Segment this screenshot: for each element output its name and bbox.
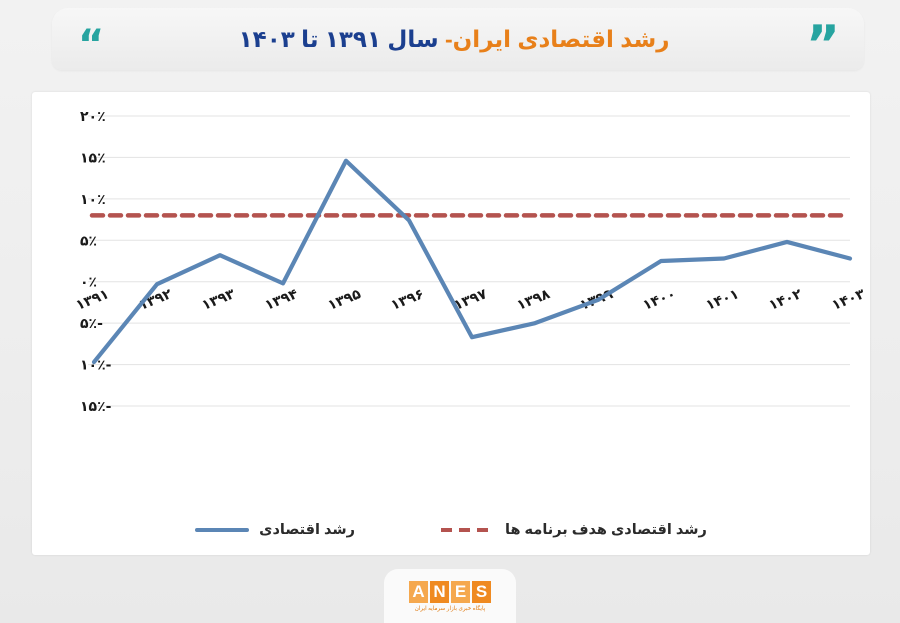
legend-swatch-dashed-icon — [441, 528, 495, 532]
sena-logo-letter-e: E — [451, 581, 470, 603]
chart-legend: رشد اقتصادی هدف برنامه ها رشد اقتصادی — [32, 513, 870, 547]
svg-text:۱۴۰۱: ۱۴۰۱ — [704, 286, 742, 314]
sena-logo[interactable]: SENA پایگاه خبری بازار سرمایه ایران — [384, 569, 516, 623]
legend-item-target[interactable]: رشد اقتصادی هدف برنامه ها — [441, 522, 707, 538]
sena-logo-letters: SENA — [409, 581, 491, 603]
svg-text:۱۳۹۶: ۱۳۹۶ — [389, 286, 427, 314]
legend-label-growth: رشد اقتصادی — [259, 522, 355, 538]
chart-card: ۲۰٪۱۵٪۱۰٪۵٪۰٪-۵٪-۱۰٪-۱۵٪ ۱۳۹۱۱۳۹۲۱۳۹۳۱۳۹… — [32, 92, 870, 555]
sena-logo-letter-s: S — [472, 581, 491, 603]
page-title: رشد اقتصادی ایران- سال ۱۳۹۱ تا ۱۴۰۳ — [102, 26, 806, 53]
header-band: ” رشد اقتصادی ایران- سال ۱۳۹۱ تا ۱۴۰۳ “ — [52, 8, 864, 70]
svg-text:-۱۵٪: -۱۵٪ — [80, 399, 112, 415]
y-axis-tick-labels: ۲۰٪۱۵٪۱۰٪۵٪۰٪-۵٪-۱۰٪-۱۵٪ — [80, 109, 112, 415]
svg-text:۱۴۰۳: ۱۴۰۳ — [830, 286, 868, 314]
svg-text:۵٪: ۵٪ — [80, 233, 97, 249]
sena-logo-letter-a: A — [409, 581, 428, 603]
footer: SENA پایگاه خبری بازار سرمایه ایران — [0, 563, 900, 623]
quote-left-icon: “ — [78, 34, 102, 56]
svg-text:۲۰٪: ۲۰٪ — [80, 109, 106, 125]
page-title-main: رشد اقتصادی ایران- — [445, 26, 669, 52]
svg-text:۱۳۹۵: ۱۳۹۵ — [326, 286, 364, 314]
sena-logo-subtitle: پایگاه خبری بازار سرمایه ایران — [415, 606, 485, 612]
svg-text:۰٪: ۰٪ — [80, 275, 97, 291]
svg-text:۱۴۰۲: ۱۴۰۲ — [767, 286, 805, 314]
legend-label-target: رشد اقتصادی هدف برنامه ها — [505, 522, 707, 538]
economic-growth-line — [94, 161, 850, 362]
legend-item-growth[interactable]: رشد اقتصادی — [195, 522, 355, 538]
infographic-root: ” رشد اقتصادی ایران- سال ۱۳۹۱ تا ۱۴۰۳ “ … — [0, 0, 900, 623]
sena-logo-letter-n: N — [430, 581, 449, 603]
svg-text:۱۵٪: ۱۵٪ — [80, 150, 106, 166]
economic-growth-line-chart: ۲۰٪۱۵٪۱۰٪۵٪۰٪-۵٪-۱۰٪-۱۵٪ ۱۳۹۱۱۳۹۲۱۳۹۳۱۳۹… — [32, 92, 870, 512]
svg-text:-۵٪: -۵٪ — [80, 316, 103, 332]
x-axis-tick-labels: ۱۳۹۱۱۳۹۲۱۳۹۳۱۳۹۴۱۳۹۵۱۳۹۶۱۳۹۷۱۳۹۸۱۳۹۹۱۴۰۰… — [74, 286, 868, 314]
svg-text:۱۳۹۸: ۱۳۹۸ — [515, 286, 553, 314]
quote-right-icon: ” — [806, 31, 838, 59]
svg-text:۱۳۹۴: ۱۳۹۴ — [263, 286, 301, 314]
svg-text:۱۴۰۰: ۱۴۰۰ — [641, 286, 679, 314]
legend-swatch-solid-icon — [195, 528, 249, 532]
svg-text:۱۳۹۳: ۱۳۹۳ — [200, 286, 238, 314]
gridlines — [88, 116, 850, 406]
page-title-sub: سال ۱۳۹۱ تا ۱۴۰۳ — [239, 26, 445, 52]
svg-text:۱۰٪: ۱۰٪ — [80, 192, 106, 208]
